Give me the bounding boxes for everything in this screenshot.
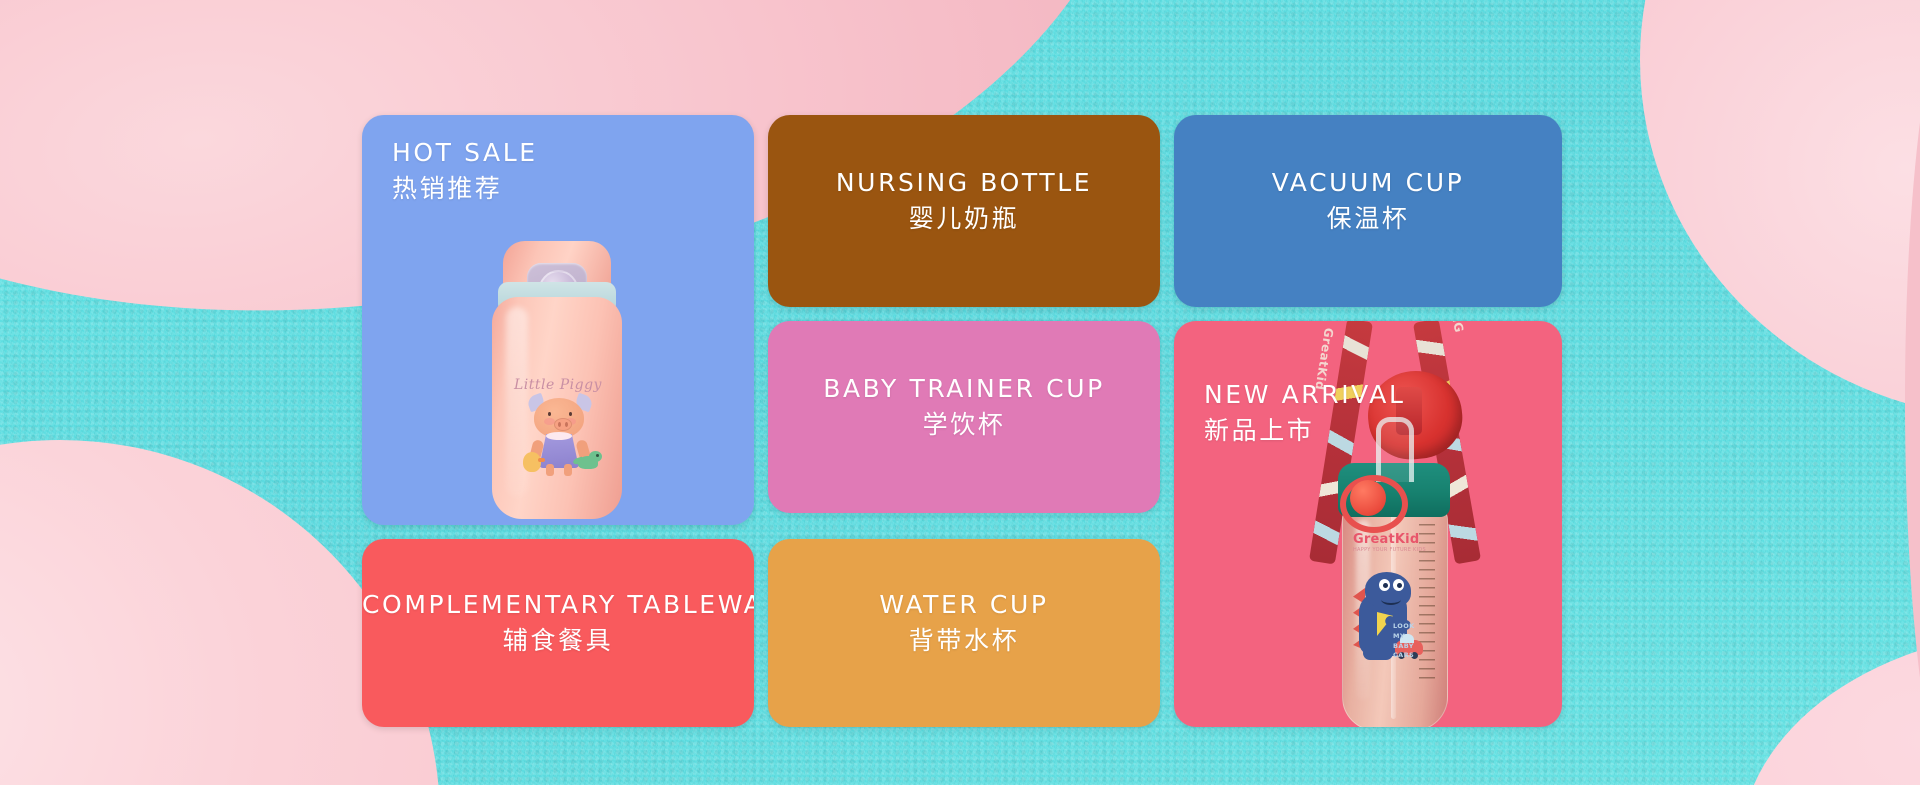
category-card-vacuum-cup[interactable]: VACUUM CUP 保温杯 [1174, 115, 1562, 307]
pig-eye-right [569, 412, 572, 416]
pig-dress-collar [546, 432, 572, 440]
pig-eye-left [548, 412, 551, 416]
dino-leg [1363, 646, 1393, 660]
category-card-baby-trainer-cup[interactable]: BABY TRAINER CUP 学饮杯 [768, 321, 1160, 513]
dino-pupil-right [1397, 583, 1402, 588]
dino-eye [596, 454, 599, 457]
bottle-brand-text: Little Piggy [486, 377, 630, 393]
strap-brand-text-right: PIG [1447, 321, 1466, 334]
category-grid: HOT SALE 热销推荐 Little Piggy [362, 115, 1562, 727]
category-label-en: VACUUM CUP [1174, 167, 1562, 199]
dino-pupil-left [1383, 583, 1388, 588]
category-card-complementary-tableware[interactable]: COMPLEMENTARY TABLEWARE 辅食餐具 [362, 539, 754, 727]
category-label-cn: 新品上市 [1204, 414, 1406, 448]
category-label-en: NURSING BOTTLE [768, 167, 1160, 199]
category-label-cn: 辅食餐具 [362, 624, 754, 658]
dinosaur-illustration: LOOK MY BABY CARS [1351, 566, 1425, 664]
pig-leg-left [546, 464, 554, 476]
category-label-en: BABY TRAINER CUP [768, 373, 1160, 405]
dino-mouth [1381, 594, 1401, 605]
category-label-cn: 学饮杯 [768, 408, 1160, 442]
category-label-vacuum-cup: VACUUM CUP 保温杯 [1174, 167, 1562, 236]
category-label-cn: 保温杯 [1174, 202, 1562, 236]
banner-stage: HOT SALE 热销推荐 Little Piggy [0, 0, 1920, 785]
pig-illustration [526, 398, 592, 476]
category-card-hot-sale[interactable]: HOT SALE 热销推荐 Little Piggy [362, 115, 754, 525]
category-label-new-arrival: NEW ARRIVAL 新品上市 [1204, 379, 1406, 448]
bottle-brand-text: GreatKid [1353, 532, 1419, 547]
category-label-cn: 婴儿奶瓶 [768, 202, 1160, 236]
category-label-water-cup: WATER CUP 背带水杯 [768, 589, 1160, 658]
category-label-cn: 背带水杯 [768, 624, 1160, 658]
category-card-new-arrival[interactable]: NEW ARRIVAL 新品上市 GreatKid PIG GreatKid [1174, 321, 1562, 727]
bottle-release-button [1350, 480, 1386, 516]
category-card-nursing-bottle[interactable]: NURSING BOTTLE 婴儿奶瓶 [768, 115, 1160, 307]
category-label-en: COMPLEMENTARY TABLEWARE [362, 589, 754, 621]
pig-leg-right [564, 464, 572, 476]
category-label-hot-sale: HOT SALE 热销推荐 [392, 137, 538, 206]
bottle-print-text: LOOK MY BABY CARS [1393, 622, 1425, 661]
category-label-complementary-tableware: COMPLEMENTARY TABLEWARE 辅食餐具 [362, 589, 754, 658]
category-label-cn: 热销推荐 [392, 172, 538, 206]
category-label-baby-trainer-cup: BABY TRAINER CUP 学饮杯 [768, 373, 1160, 442]
bottle-brand-tagline: HAPPY YOUR FUTURE KIDS [1353, 547, 1426, 553]
bottle-cup-body: GreatKid HAPPY YOUR FUTURE KIDS [1342, 509, 1448, 727]
category-label-en: WATER CUP [768, 589, 1160, 621]
category-label-en: HOT SALE [392, 137, 538, 169]
category-label-nursing-bottle: NURSING BOTTLE 婴儿奶瓶 [768, 167, 1160, 236]
category-label-en: NEW ARRIVAL [1204, 379, 1406, 411]
dino-toy-icon [576, 450, 602, 472]
duck-toy-icon [523, 452, 541, 472]
pig-snout [554, 418, 572, 431]
category-card-water-cup[interactable]: WATER CUP 背带水杯 [768, 539, 1160, 727]
product-image-pig-thermos: Little Piggy [486, 235, 630, 520]
